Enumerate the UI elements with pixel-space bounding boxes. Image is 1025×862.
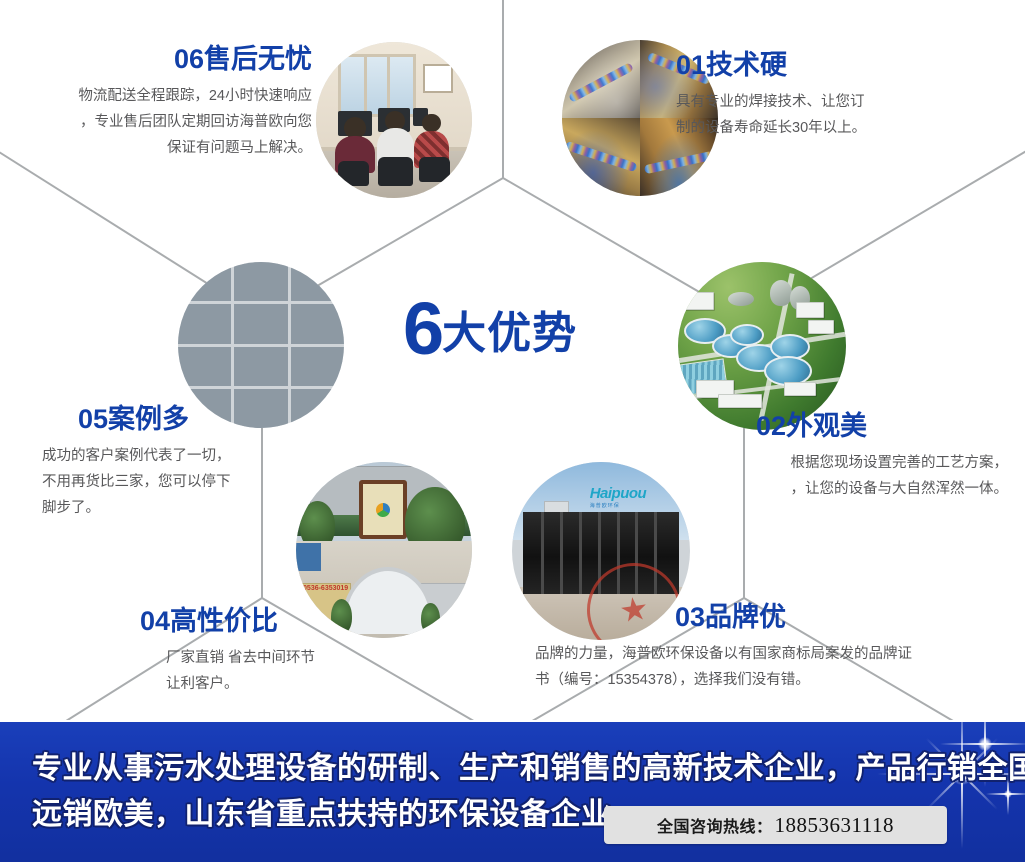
advantage-05-line-1: 成功的客户案例代表了一切，: [42, 443, 378, 469]
advantage-05-heading: 05案例多: [78, 406, 378, 433]
advantage-02-line-2: ，让您的设备与大自然浑然一体。: [660, 476, 1008, 502]
advantage-05-line-3: 脚步了。: [42, 495, 378, 521]
advantage-03-block: 03品牌优 品牌的力量，海普欧环保设备以有国家商标局案发的品牌证 书（编号：15…: [535, 604, 1005, 693]
advantage-02-heading: 02外观美: [756, 413, 1008, 440]
advantage-04-block: 04高性价比 厂家直销 省去中间环节 让利客户。: [140, 608, 440, 697]
hotline-number: 18853631118: [775, 813, 894, 838]
hotline-box[interactable]: 全国咨询热线： 18853631118: [604, 806, 947, 844]
advantage-06-line-1: 物流配送全程跟踪，24小时快速响应: [0, 83, 312, 109]
advantage-03-line-2: 书（编号：15354378），选择我们没有错。: [535, 667, 1005, 693]
banner-line-1: 专业从事污水处理设备的研制、生产和销售的高新技术企业，产品行销全国并: [32, 746, 992, 792]
hotline-label: 全国咨询热线：: [657, 813, 773, 837]
center-title-suffix: 大优势: [442, 309, 577, 358]
advantage-01-heading: 01技术硬: [676, 52, 1006, 79]
advantage-05-line-2: 不用再货比三家，您可以停下: [42, 469, 378, 495]
office-staff-photo: [316, 42, 472, 198]
haipuou-logo: Haipuou 海普欧环保: [590, 485, 647, 509]
advantage-06-line-3: 保证有问题马上解决。: [0, 135, 312, 161]
advantage-02-block: 02外观美 根据您现场设置完善的工艺方案， ，让您的设备与大自然浑然一体。: [660, 413, 1008, 502]
advantage-04-heading: 04高性价比: [140, 608, 440, 635]
advantage-06-heading: 06售后无忧: [0, 46, 312, 73]
advantage-04-line-2: 让利客户。: [166, 671, 440, 697]
advantage-06-line-2: ，专业售后团队定期回访海普欧向您: [0, 109, 312, 135]
promo-graphic: 01技术硬 具有专业的焊接技术、让您订 制的设备寿命延长30年以上。: [0, 0, 1025, 862]
advantage-03-line-1: 品牌的力量，海普欧环保设备以有国家商标局案发的品牌证: [535, 641, 1005, 667]
advantage-04-line-1: 厂家直销 省去中间环节: [166, 645, 440, 671]
advantage-05-block: 05案例多 成功的客户案例代表了一切， 不用再货比三家，您可以停下 脚步了。: [78, 406, 378, 521]
case-collage-photo: [178, 262, 344, 428]
center-title: 6大优势: [403, 292, 577, 366]
advantage-03-heading: 03品牌优: [675, 604, 1005, 631]
aerial-plant-photo: [678, 262, 846, 430]
advantage-01-line-2: 制的设备寿命延长30年以上。: [676, 115, 1006, 141]
center-title-number: 6: [403, 287, 442, 370]
advantage-01-line-1: 具有专业的焊接技术、让您订: [676, 89, 1006, 115]
advantage-06-block: 06售后无忧 物流配送全程跟踪，24小时快速响应 ，专业售后团队定期回访海普欧向…: [0, 46, 312, 161]
advantage-02-line-1: 根据您现场设置完善的工艺方案，: [660, 450, 1008, 476]
advantage-01-block: 01技术硬 具有专业的焊接技术、让您订 制的设备寿命延长30年以上。: [676, 52, 1006, 141]
